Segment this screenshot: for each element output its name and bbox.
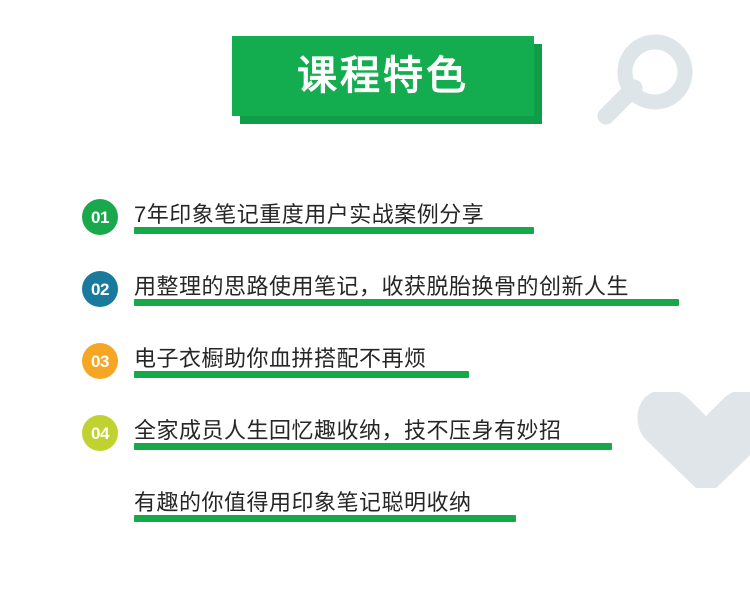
feature-text: 7年印象笔记重度用户实战案例分享 [134, 196, 484, 234]
badge-label: 01 [91, 209, 109, 226]
feature-text: 有趣的你值得用印象笔记聪明收纳 [134, 484, 472, 522]
feature-text-wrap: 全家成员人生回忆趣收纳，技不压身有妙招 [134, 412, 562, 454]
number-badge-01: 01 [82, 199, 118, 235]
badge-label: 03 [91, 353, 109, 370]
badge-slot: 02 [82, 268, 134, 310]
banner-front-layer: 课程特色 [232, 36, 534, 116]
feature-text-wrap: 有趣的你值得用印象笔记聪明收纳 [134, 484, 472, 526]
badge-slot: 04 [82, 412, 134, 454]
feature-text-wrap: 7年印象笔记重度用户实战案例分享 [134, 196, 484, 238]
page-title: 课程特色 [297, 56, 469, 96]
number-badge-04: 04 [82, 415, 118, 451]
feature-text: 用整理的思路使用笔记，收获脱胎换骨的创新人生 [134, 268, 629, 306]
badge-slot: 01 [82, 196, 134, 238]
number-badge-03: 03 [82, 343, 118, 379]
feature-text: 全家成员人生回忆趣收纳，技不压身有妙招 [134, 412, 562, 450]
feature-text-wrap: 用整理的思路使用笔记，收获脱胎换骨的创新人生 [134, 268, 629, 310]
feature-list: 01 7年印象笔记重度用户实战案例分享 02 用整理的思路使用笔记，收获脱胎换骨… [0, 196, 750, 556]
section-title-banner: 课程特色 [232, 36, 534, 116]
page-root: 课程特色 01 7年印象笔记重度用户实战案例分享 [0, 0, 750, 591]
badge-label: 02 [91, 281, 109, 298]
heart-icon [636, 392, 750, 488]
number-badge-02: 02 [82, 271, 118, 307]
badge-slot-empty [82, 484, 134, 526]
badge-label: 04 [91, 425, 109, 442]
feature-text-wrap: 电子衣橱助你血拼搭配不再烦 [134, 340, 427, 382]
magnifier-icon [590, 30, 700, 130]
list-item: 有趣的你值得用印象笔记聪明收纳 [0, 484, 750, 556]
badge-slot: 03 [82, 340, 134, 382]
feature-text: 电子衣橱助你血拼搭配不再烦 [134, 340, 427, 378]
list-item: 02 用整理的思路使用笔记，收获脱胎换骨的创新人生 [0, 268, 750, 340]
list-item: 01 7年印象笔记重度用户实战案例分享 [0, 196, 750, 268]
